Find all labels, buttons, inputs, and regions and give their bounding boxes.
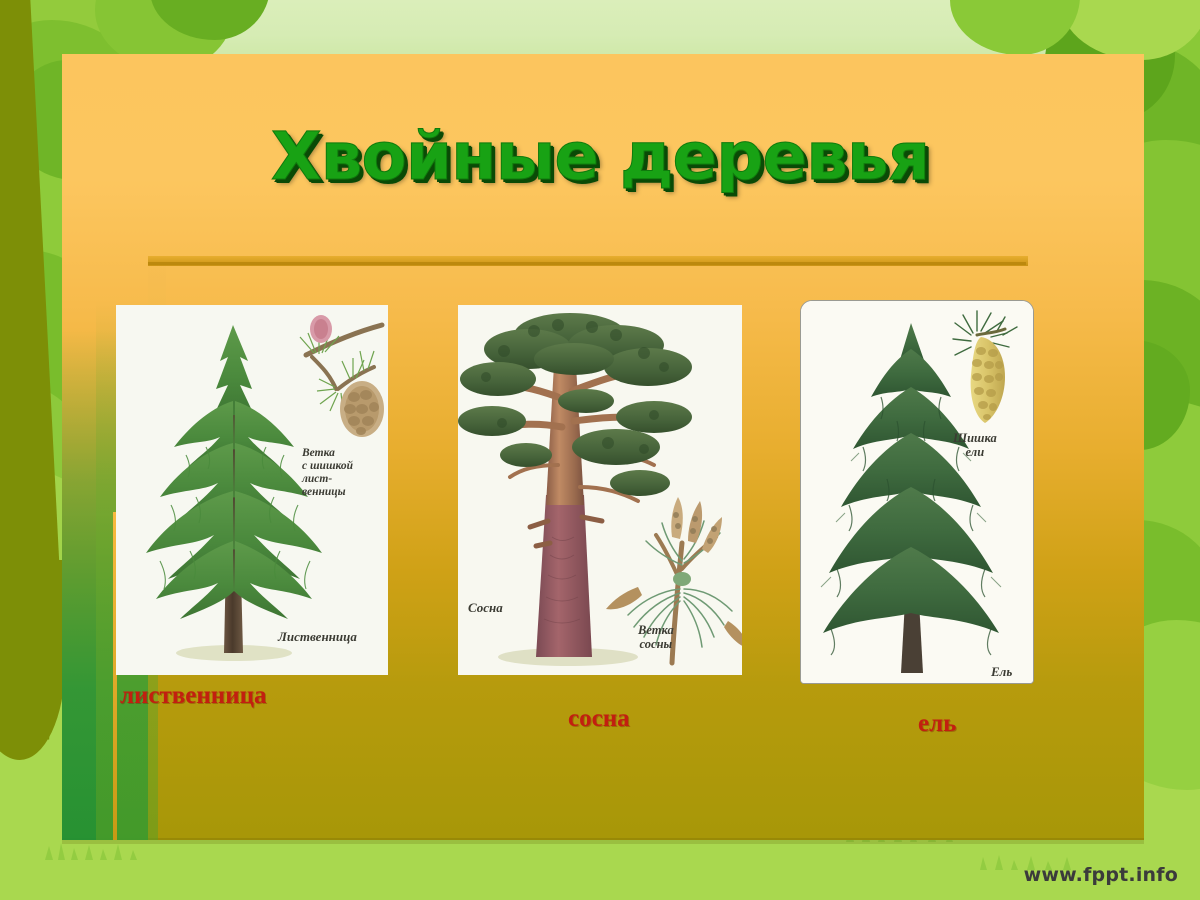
spruce-illustration <box>801 301 1033 683</box>
watermark: www.fppt.info <box>1024 864 1178 886</box>
page-title: Хвойные деревья <box>0 118 1200 195</box>
card-inner-caption-detail: Ветка сосны <box>638 623 674 651</box>
image-card-pine[interactable]: Сосна Ветка сосны <box>458 305 742 675</box>
label-pine: сосна <box>568 705 630 733</box>
label-spruce: ель <box>918 710 956 738</box>
image-card-spruce[interactable]: Шишка ели Ель <box>800 300 1034 684</box>
slide-canvas: Хвойные деревья <box>0 0 1200 900</box>
card-inner-caption-detail: Ветка с шишкой лист- венницы <box>302 447 353 499</box>
card-inner-caption-main: Ель <box>991 665 1012 680</box>
panel-shadow <box>62 838 1144 844</box>
card-inner-caption-main: Сосна <box>468 601 503 616</box>
card-inner-caption-detail: Шишка ели <box>953 431 997 459</box>
image-card-larch[interactable]: Ветка с шишкой лист- венницы Лиственница <box>116 305 388 675</box>
pine-illustration <box>458 305 742 675</box>
card-inner-caption-main: Лиственница <box>278 630 357 645</box>
label-larch: лиственница <box>120 682 267 710</box>
title-divider-line <box>148 262 1026 265</box>
